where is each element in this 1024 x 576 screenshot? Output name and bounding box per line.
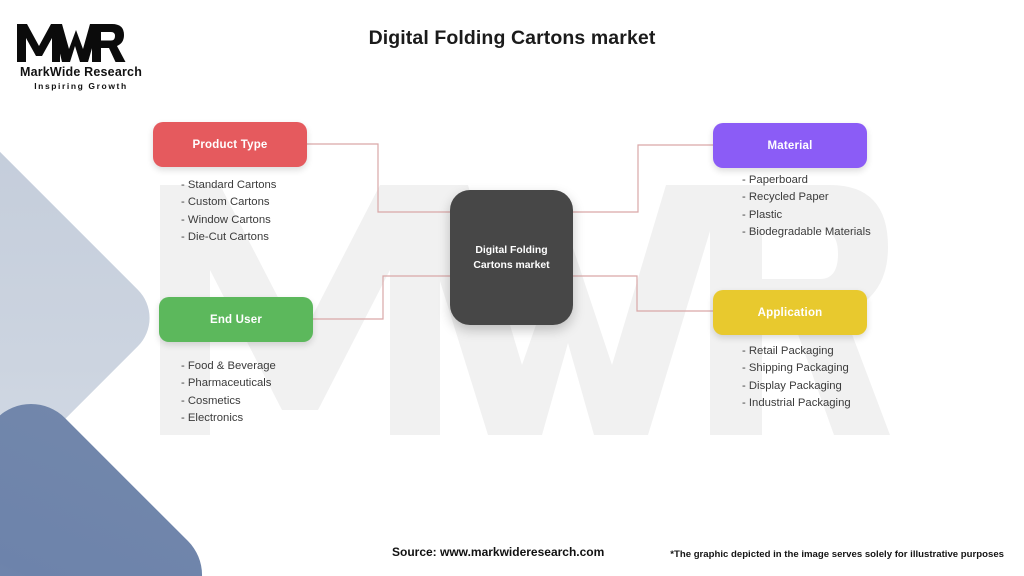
list-item: - Standard Cartons bbox=[181, 177, 276, 194]
branch-label-text: Material bbox=[767, 140, 812, 152]
branch-label-text: End User bbox=[210, 314, 262, 326]
list-item: - Retail Packaging bbox=[742, 343, 851, 360]
connector-application bbox=[571, 276, 713, 311]
branch-label-text: Product Type bbox=[192, 139, 267, 151]
list-item: - Biodegradable Materials bbox=[742, 224, 871, 241]
list-item: - Electronics bbox=[181, 410, 276, 427]
connector-product-type bbox=[307, 144, 452, 212]
list-item: - Display Packaging bbox=[742, 378, 851, 395]
list-item: - Food & Beverage bbox=[181, 358, 276, 375]
infographic-canvas: MarkWide Research Inspiring Growth Digit… bbox=[0, 0, 1024, 576]
list-item: - Shipping Packaging bbox=[742, 360, 851, 377]
list-item: - Cosmetics bbox=[181, 393, 276, 410]
list-item: - Window Cartons bbox=[181, 212, 276, 229]
connector-material bbox=[571, 145, 713, 212]
disclaimer-text: *The graphic depicted in the image serve… bbox=[670, 549, 1004, 560]
branch-label-material[interactable]: Material bbox=[713, 123, 867, 168]
branch-items-application: - Retail Packaging - Shipping Packaging … bbox=[742, 343, 851, 413]
branch-items-material: - Paperboard - Recycled Paper - Plastic … bbox=[742, 172, 871, 242]
branch-label-text: Application bbox=[758, 307, 823, 319]
branch-label-application[interactable]: Application bbox=[713, 290, 867, 335]
list-item: - Pharmaceuticals bbox=[181, 375, 276, 392]
list-item: - Die-Cut Cartons bbox=[181, 229, 276, 246]
source-text: Source: www.markwideresearch.com bbox=[392, 545, 604, 559]
branch-items-end-user: - Food & Beverage - Pharmaceuticals - Co… bbox=[181, 358, 276, 428]
branch-label-product-type[interactable]: Product Type bbox=[153, 122, 307, 167]
center-node-line2: Cartons market bbox=[473, 260, 549, 271]
connector-end-user bbox=[313, 276, 452, 319]
list-item: - Recycled Paper bbox=[742, 189, 871, 206]
list-item: - Plastic bbox=[742, 207, 871, 224]
list-item: - Custom Cartons bbox=[181, 194, 276, 211]
branch-label-end-user[interactable]: End User bbox=[159, 297, 313, 342]
list-item: - Industrial Packaging bbox=[742, 395, 851, 412]
center-node-line1: Digital Folding bbox=[475, 245, 547, 256]
list-item: - Paperboard bbox=[742, 172, 871, 189]
branch-items-product-type: - Standard Cartons - Custom Cartons - Wi… bbox=[181, 177, 276, 247]
center-node[interactable]: Digital Folding Cartons market bbox=[450, 190, 573, 325]
center-node-label: Digital Folding Cartons market bbox=[465, 243, 557, 273]
